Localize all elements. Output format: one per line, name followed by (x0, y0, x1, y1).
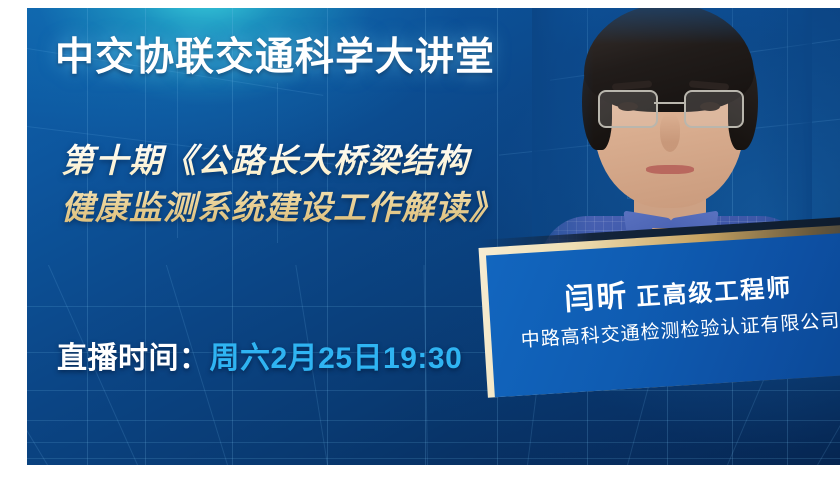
speaker-info-card: 闫昕正高级工程师 中路高科交通检测检验认证有限公司 (479, 231, 840, 416)
subtitle-line-1: 第十期《公路长大桥梁结构 (61, 138, 601, 185)
speaker-role: 正高级工程师 (636, 274, 793, 311)
page-title: 中交协联交通科学大讲堂 (55, 26, 495, 82)
live-time-label: 直播时间： (57, 342, 210, 375)
subtitle-line-2: 健康监测系统建设工作解读》 (61, 185, 601, 232)
mouth (646, 165, 694, 174)
speaker-name: 闫昕 (563, 280, 629, 317)
live-stream-poster: 中交协联交通科学大讲堂 第十期《公路长大桥梁结构 健康监测系统建设工作解读》 直… (27, 8, 840, 465)
live-time-value: 周六2月25日19:30 (210, 342, 463, 375)
live-time-row: 直播时间：周六2月25日19:30 (57, 333, 462, 377)
card-body: 闫昕正高级工程师 中路高科交通检测检验认证有限公司 (486, 231, 840, 397)
nose (660, 114, 680, 152)
episode-subtitle: 第十期《公路长大桥梁结构 健康监测系统建设工作解读》 (61, 138, 601, 232)
